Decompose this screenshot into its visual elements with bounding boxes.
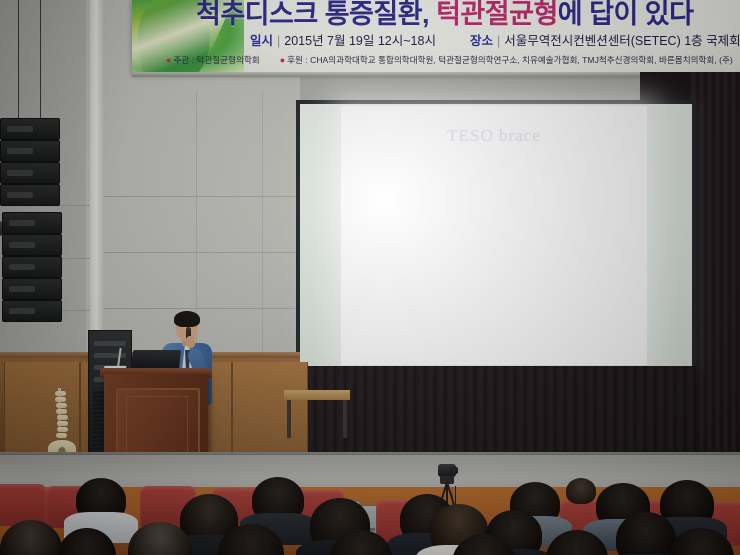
audience-member [546,530,608,555]
audience-member [58,528,116,555]
stage-curtain-right [690,72,740,472]
wall-seam [262,92,263,352]
speaker-rigging-wire [40,0,41,122]
auditorium-photo: 척추디스크 통증질환, 턱관절균형에 답이 있다 일시|2015년 7월 19일… [0,0,740,555]
wall-seam [104,252,300,253]
stage-chair [284,390,350,440]
audience-member [128,522,192,555]
banner-title-part2: 에 답이 있다 [558,0,694,29]
audience-member [0,520,62,555]
banner-title-part1: 척추디스크 통증질환, [196,0,436,29]
audience-member [76,478,126,522]
wall-seam [104,196,300,197]
venue-value: 서울무역전시컨벤션센터(SETEC) 1층 국제회의장 [504,34,740,48]
date-label: 일시 [250,34,273,48]
presenter-laptop [131,350,181,370]
audience-member [252,477,304,523]
sponsor-label: 후원 : [287,55,310,65]
audience-member [616,512,676,555]
banner-title: 척추디스크 통증질환, 턱관절균형에 답이 있다 [196,0,740,32]
audience-member [218,524,284,555]
audience-member [566,478,596,504]
sponsor-value: CHA의과학대학교 통합의학대학원, 턱관절균형의학연구소, 치유예술가협회, … [310,55,733,65]
venue-label: 장소 [470,34,493,48]
event-banner: 척추디스크 통증질환, 턱관절균형에 답이 있다 일시|2015년 7월 19일… [132,0,740,74]
audience-member [668,528,734,555]
audience-member [452,534,516,555]
banner-details: 일시|2015년 7월 19일 12시~18시장소|서울무역전시컨벤션센터(SE… [250,32,740,50]
date-value: 2015년 7월 19일 12시~18시 [284,34,436,48]
banner-title-highlight: 턱관절균형 [436,0,558,29]
audience-member [330,530,392,555]
host-label: 주관 : [173,55,196,65]
host-value: 턱관절균형의학회 [196,55,259,65]
slide-title-text: TESO brace [341,126,647,146]
line-array-speaker-bottom [2,212,64,318]
line-array-speaker-top [0,118,62,204]
speaker-rigging-wire [18,0,19,122]
banner-credits: ●주관 : 턱관절균형의학회●후원 : CHA의과학대학교 통합의학대학원, 턱… [166,53,740,67]
